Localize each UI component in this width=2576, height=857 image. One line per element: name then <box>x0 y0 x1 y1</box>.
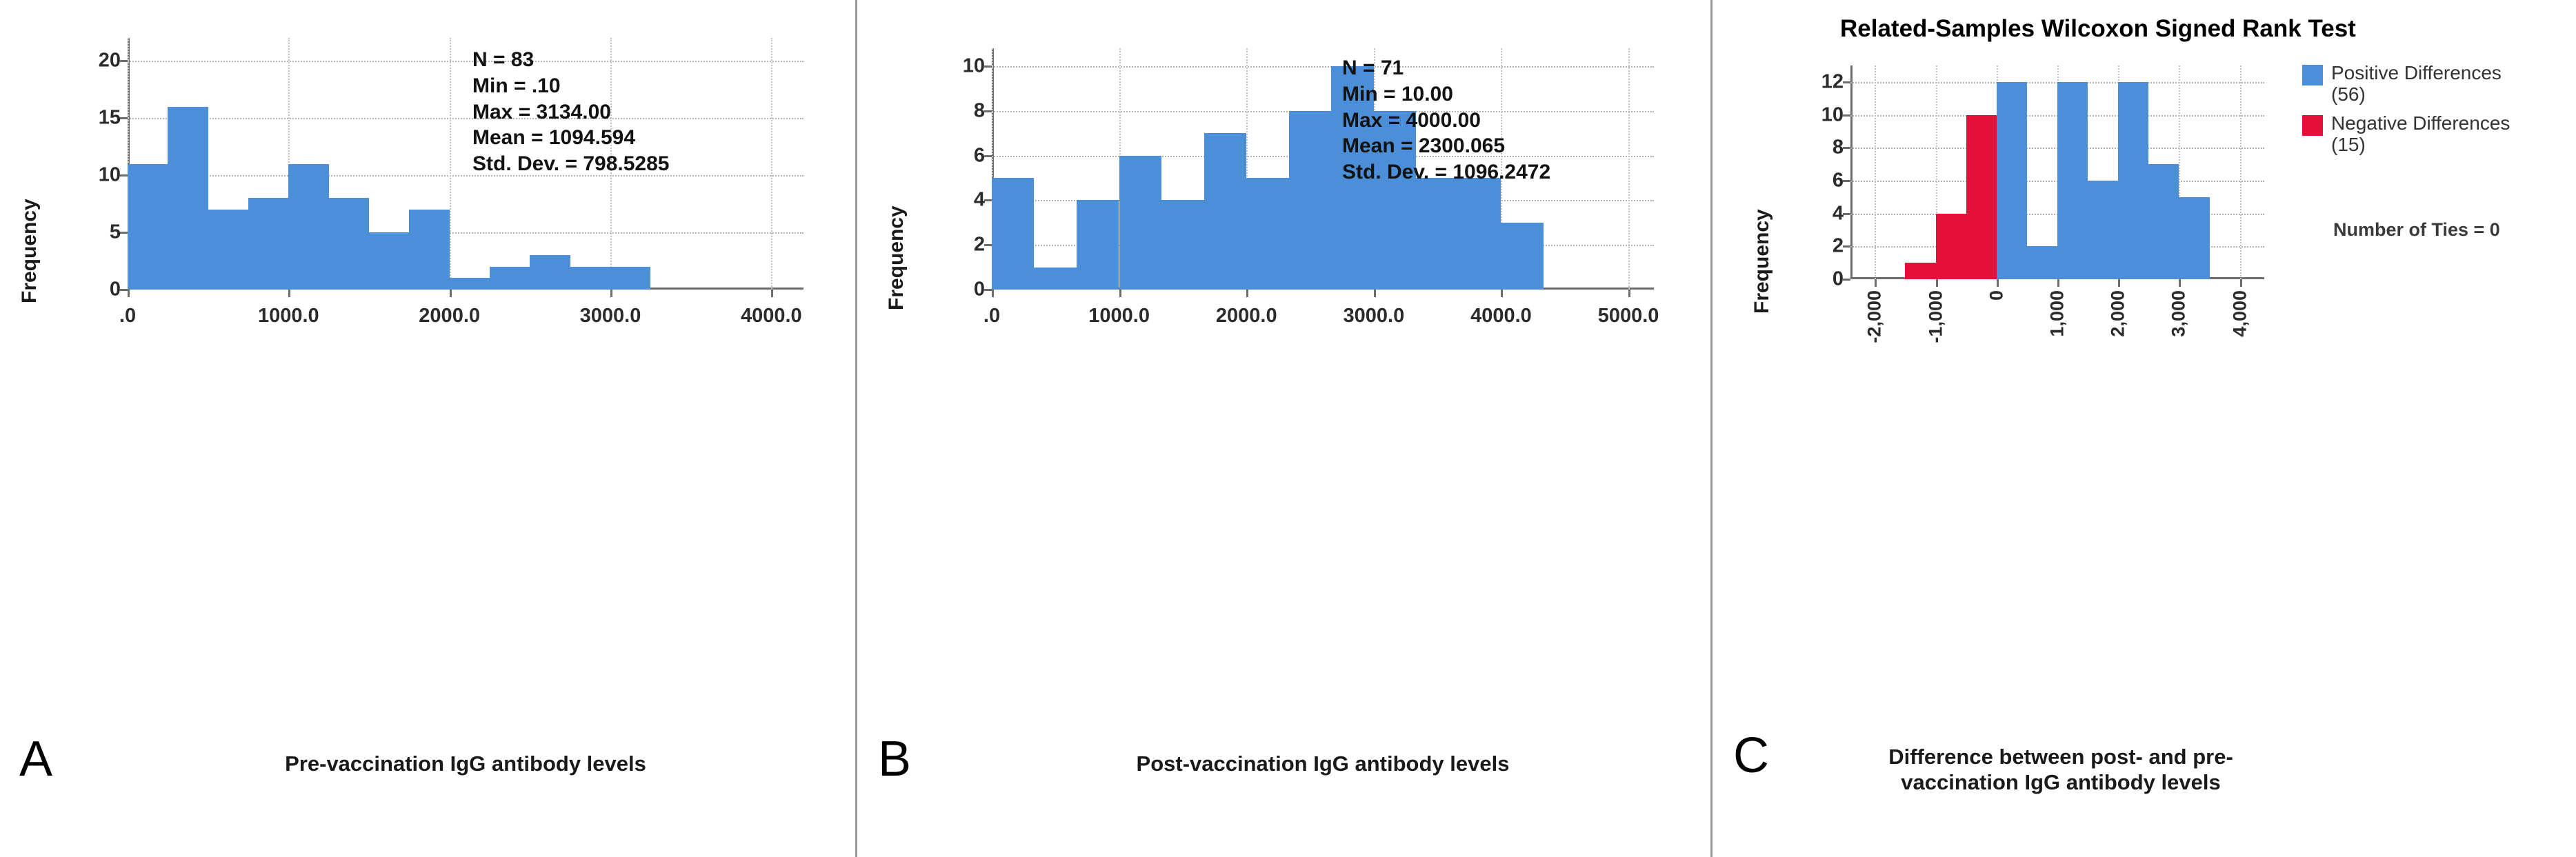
y-tick-label: 10 <box>963 54 985 77</box>
panel-a-plot: 05101520.01000.02000.03000.04000.0 <box>128 38 803 290</box>
panel-b-plot: 0246810.01000.02000.03000.04000.05000.0 <box>992 48 1654 290</box>
panel-b-x-axis-title: Post-vaccination IgG antibody levels <box>992 752 1654 777</box>
legend-label-negative: Negative Differences (15) <box>2331 112 2510 156</box>
y-tick-mark <box>120 289 128 291</box>
y-tick-label: 10 <box>99 164 121 187</box>
x-tick-mark <box>1374 290 1376 297</box>
y-tick-mark <box>1843 180 1850 182</box>
histogram-bar <box>530 255 570 290</box>
panel-a-stat-min: Min = .10 <box>472 73 669 99</box>
x-tick-label: 1000.0 <box>258 305 319 327</box>
histogram-bar <box>490 267 530 290</box>
gridline-horizontal <box>128 61 803 62</box>
x-tick-label: 4000.0 <box>741 305 802 327</box>
panel-c-y-axis-title: Frequency <box>1750 148 1774 314</box>
x-tick-label: 4000.0 <box>1470 305 1532 327</box>
y-tick-label: 6 <box>974 144 985 167</box>
histogram-bar <box>1077 200 1119 290</box>
gridline-vertical <box>2240 65 2241 279</box>
histogram-bar <box>288 164 328 290</box>
histogram-bar <box>2088 181 2118 279</box>
x-tick-label: 2000.0 <box>419 305 480 327</box>
histogram-bar <box>168 107 208 290</box>
panel-a-x-axis-title: Pre-vaccination IgG antibody levels <box>128 752 803 777</box>
y-tick-label: 4 <box>974 189 985 212</box>
histogram-bar <box>610 267 650 290</box>
panel-b-stat-min: Min = 10.00 <box>1342 81 1550 108</box>
histogram-bar <box>1289 111 1331 290</box>
panel-c-plot: 024681012-2,000-1,00001,0002,0003,0004,0… <box>1850 65 2264 279</box>
histogram-bar <box>2027 246 2057 279</box>
y-tick-label: 4 <box>1833 202 1844 225</box>
panel-c-x-axis-title-line2: vaccination IgG antibody levels <box>1819 770 2302 796</box>
x-tick-mark <box>2240 279 2242 287</box>
panel-a-stat-n: N = 83 <box>472 47 669 73</box>
y-tick-label: 10 <box>1821 103 1844 126</box>
legend-label-positive-line2: (56) <box>2331 83 2502 105</box>
y-tick-mark <box>1843 245 1850 248</box>
y-tick-label: 0 <box>1833 268 1844 291</box>
x-tick-label: 5000.0 <box>1598 305 1659 327</box>
panel-a-letter: A <box>19 731 52 787</box>
y-tick-mark <box>1843 213 1850 215</box>
x-tick-mark <box>771 290 773 297</box>
y-tick-label: 15 <box>99 107 121 130</box>
x-tick-label: 3,000 <box>2168 290 2190 337</box>
x-tick-mark <box>1997 279 1999 287</box>
y-tick-mark <box>1843 279 1850 281</box>
gridline-horizontal <box>992 66 1654 68</box>
x-tick-label: .0 <box>984 305 1000 327</box>
panel-b-stat-max: Max = 4000.00 <box>1342 108 1550 134</box>
x-tick-mark <box>610 290 612 297</box>
y-tick-label: 5 <box>110 221 121 244</box>
x-tick-mark <box>128 290 130 297</box>
histogram-bar <box>128 164 168 290</box>
y-tick-mark <box>1843 81 1850 83</box>
histogram-bar <box>2148 164 2179 279</box>
histogram-bar <box>248 198 288 290</box>
histogram-bar <box>1119 156 1161 290</box>
x-tick-mark <box>1875 279 1877 287</box>
y-tick-label: 2 <box>1833 235 1844 258</box>
histogram-bar <box>208 210 248 290</box>
panel-a-stat-sd: Std. Dev. = 798.5285 <box>472 151 669 177</box>
x-tick-label: 2,000 <box>2108 290 2129 337</box>
histogram-bar <box>369 232 409 290</box>
y-tick-mark <box>984 199 992 201</box>
histogram-bar <box>1905 263 1935 279</box>
panel-b-stat-n: N = 71 <box>1342 55 1550 81</box>
y-tick-mark <box>984 110 992 112</box>
x-tick-mark <box>1119 290 1121 297</box>
panel-b-letter: B <box>878 731 911 787</box>
panel-c-x-axis-title-line1: Difference between post- and pre- <box>1819 745 2302 770</box>
x-tick-label: -1,000 <box>1925 290 1946 343</box>
histogram-bar <box>570 267 610 290</box>
y-tick-label: 8 <box>1833 137 1844 159</box>
panel-a-stat-max: Max = 3134.00 <box>472 99 669 125</box>
x-tick-mark <box>1628 290 1630 297</box>
legend-label-negative-line2: (15) <box>2331 134 2510 155</box>
histogram-bar <box>1416 178 1458 290</box>
histogram-bar <box>1459 178 1501 290</box>
y-tick-label: 12 <box>1821 70 1844 93</box>
x-tick-label: 2000.0 <box>1216 305 1277 327</box>
x-tick-label: 1000.0 <box>1088 305 1150 327</box>
x-tick-mark <box>2118 279 2120 287</box>
panel-a-stats: N = 83 Min = .10 Max = 3134.00 Mean = 10… <box>472 47 669 177</box>
y-tick-mark <box>120 232 128 234</box>
y-tick-label: 8 <box>974 99 985 122</box>
histogram-bar <box>2118 82 2148 279</box>
histogram-bar <box>450 278 490 290</box>
histogram-bar <box>1246 178 1288 290</box>
y-tick-mark <box>120 117 128 119</box>
x-tick-mark <box>450 290 452 297</box>
y-tick-mark <box>120 60 128 62</box>
gridline-vertical <box>450 38 451 290</box>
panel-c-title: Related-Samples Wilcoxon Signed Rank Tes… <box>1840 15 2356 43</box>
x-tick-mark <box>2179 279 2181 287</box>
histogram-bar <box>1966 115 1997 279</box>
panel-a: Frequency 05101520.01000.02000.03000.040… <box>0 0 855 857</box>
gridline-vertical <box>1628 48 1630 290</box>
histogram-bar <box>329 198 369 290</box>
histogram-bar <box>1501 223 1543 290</box>
y-tick-label: 0 <box>974 279 985 301</box>
panel-c-legend: Positive Differences (56) Negative Diffe… <box>2302 62 2530 162</box>
figure-root: Frequency 05101520.01000.02000.03000.040… <box>0 0 2576 857</box>
panel-b-stat-sd: Std. Dev. = 1096.2472 <box>1342 159 1550 185</box>
x-tick-label: 3000.0 <box>1343 305 1404 327</box>
panel-b: Frequency 0246810.01000.02000.03000.0400… <box>855 0 1710 857</box>
histogram-bar <box>1204 133 1246 290</box>
panel-a-y-axis-title: Frequency <box>18 138 41 303</box>
legend-swatch-negative-icon <box>2302 115 2323 136</box>
legend-item-negative: Negative Differences (15) <box>2302 112 2530 156</box>
histogram-bar <box>1997 82 2027 279</box>
panel-c-ties-note: Number of Ties = 0 <box>2333 219 2500 241</box>
x-tick-mark <box>1246 290 1248 297</box>
y-tick-label: 2 <box>974 234 985 256</box>
histogram-bar <box>2057 82 2088 279</box>
histogram-bar <box>1161 200 1204 290</box>
y-tick-label: 20 <box>99 50 121 72</box>
y-tick-label: 0 <box>110 279 121 301</box>
gridline-horizontal <box>128 175 803 177</box>
panel-c: Related-Samples Wilcoxon Signed Rank Tes… <box>1710 0 2576 857</box>
gridline-vertical <box>771 38 772 290</box>
legend-swatch-positive-icon <box>2302 65 2323 85</box>
x-tick-mark <box>2057 279 2059 287</box>
legend-label-positive-line1: Positive Differences <box>2331 62 2502 83</box>
x-tick-mark <box>288 290 290 297</box>
y-tick-mark <box>984 65 992 68</box>
x-tick-label: .0 <box>119 305 136 327</box>
panel-a-stat-mean: Mean = 1094.594 <box>472 125 669 151</box>
x-tick-label: -2,000 <box>1864 290 1886 343</box>
y-tick-mark <box>1843 114 1850 117</box>
y-tick-mark <box>984 155 992 157</box>
x-tick-label: 0 <box>1986 290 2007 301</box>
legend-item-positive: Positive Differences (56) <box>2302 62 2530 105</box>
x-tick-label: 3000.0 <box>580 305 641 327</box>
histogram-bar <box>1936 214 1966 279</box>
gridline-horizontal <box>128 118 803 119</box>
y-tick-mark <box>120 174 128 177</box>
gridline-vertical <box>1875 65 1876 279</box>
x-tick-mark <box>1936 279 1938 287</box>
panel-c-letter: C <box>1733 727 1769 784</box>
panel-b-y-axis-title: Frequency <box>885 145 908 310</box>
x-tick-mark <box>992 290 994 297</box>
panel-b-stats: N = 71 Min = 10.00 Max = 4000.00 Mean = … <box>1342 55 1550 185</box>
y-tick-mark <box>984 244 992 246</box>
histogram-bar <box>992 178 1034 290</box>
histogram-bar <box>2179 197 2209 279</box>
panel-b-stat-mean: Mean = 2300.065 <box>1342 133 1550 159</box>
x-tick-mark <box>1501 290 1503 297</box>
y-tick-label: 6 <box>1833 169 1844 192</box>
panel-c-x-axis-title: Difference between post- and pre- vaccin… <box>1819 745 2302 795</box>
y-tick-mark <box>1843 147 1850 149</box>
legend-label-positive: Positive Differences (56) <box>2331 62 2502 105</box>
histogram-bar <box>409 210 449 290</box>
histogram-bar <box>1034 268 1076 290</box>
x-tick-label: 1,000 <box>2047 290 2068 337</box>
legend-label-negative-line1: Negative Differences <box>2331 112 2510 134</box>
x-tick-label: 4,000 <box>2229 290 2250 337</box>
y-tick-mark <box>984 289 992 291</box>
